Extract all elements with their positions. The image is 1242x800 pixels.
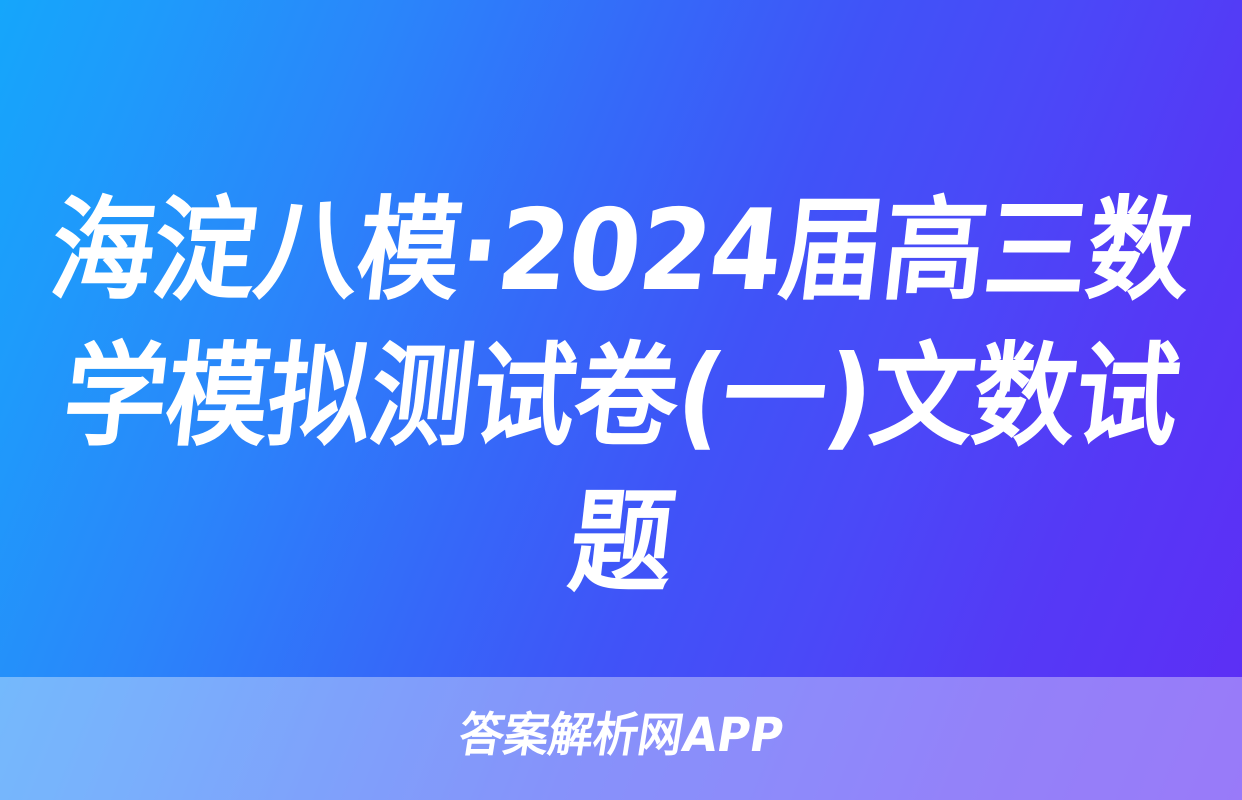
poster-title: 海淀八模·2024届高三数 学模拟测试卷(一)文数试 题 xyxy=(50,178,1193,616)
poster-title-line-2: 学模拟测试卷(一)文数试 xyxy=(50,324,1193,470)
poster-title-line-1: 海淀八模·2024届高三数 xyxy=(50,178,1193,324)
poster-title-line-1-text: 海淀八模·2024届高三数 xyxy=(44,178,1199,324)
app-watermark-text: 答案解析网APP xyxy=(455,708,787,764)
poster-title-line-2-text: 学模拟测试卷(一)文数试 xyxy=(56,324,1186,470)
poster-canvas: 海淀八模·2024届高三数 学模拟测试卷(一)文数试 题 答案解析网APP xyxy=(0,0,1242,800)
app-watermark: 答案解析网APP xyxy=(0,708,1242,764)
poster-title-line-3-text: 题 xyxy=(562,470,681,616)
poster-title-line-3: 题 xyxy=(50,470,1193,616)
